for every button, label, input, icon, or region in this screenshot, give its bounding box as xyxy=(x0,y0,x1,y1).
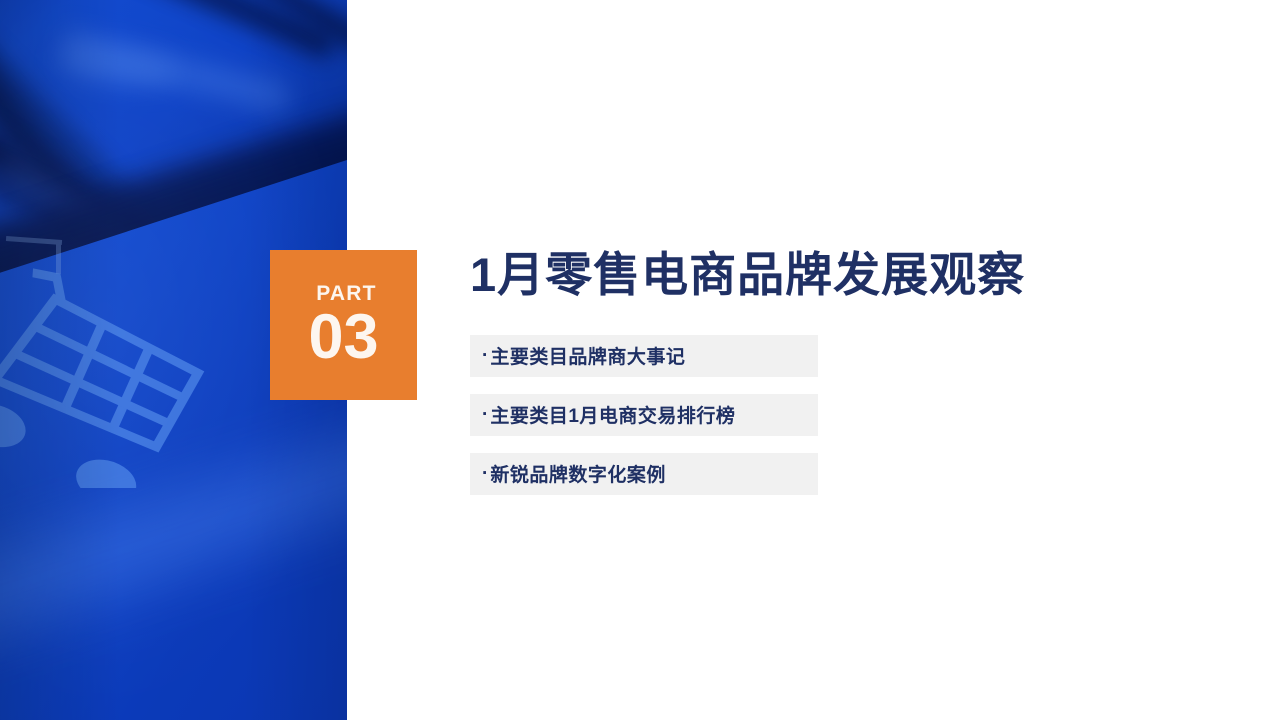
shopping-cart-icon xyxy=(0,238,214,488)
part-number: 03 xyxy=(308,308,378,368)
list-item[interactable]: · 新锐品牌数字化案例 xyxy=(470,453,818,495)
bullet-icon: · xyxy=(482,405,488,424)
list-item[interactable]: · 主要类目品牌商大事记 xyxy=(470,335,818,377)
list-item-label: 新锐品牌数字化案例 xyxy=(490,460,666,487)
page-title: 1月零售电商品牌发展观察 xyxy=(470,250,1030,301)
part-badge: PART 03 xyxy=(270,250,417,400)
list-item[interactable]: · 主要类目1月电商交易排行榜 xyxy=(470,394,818,436)
content-area: 1月零售电商品牌发展观察 · 主要类目品牌商大事记 · 主要类目1月电商交易排行… xyxy=(470,250,1030,495)
bullet-icon: · xyxy=(482,346,488,365)
topic-list: · 主要类目品牌商大事记 · 主要类目1月电商交易排行榜 · 新锐品牌数字化案例 xyxy=(470,335,818,495)
part-label: PART xyxy=(316,283,376,304)
list-item-label: 主要类目1月电商交易排行榜 xyxy=(490,401,735,428)
list-item-label: 主要类目品牌商大事记 xyxy=(490,342,685,369)
slide-canvas: PART 03 1月零售电商品牌发展观察 · 主要类目品牌商大事记 · 主要类目… xyxy=(0,0,1280,720)
bullet-icon: · xyxy=(482,464,488,483)
